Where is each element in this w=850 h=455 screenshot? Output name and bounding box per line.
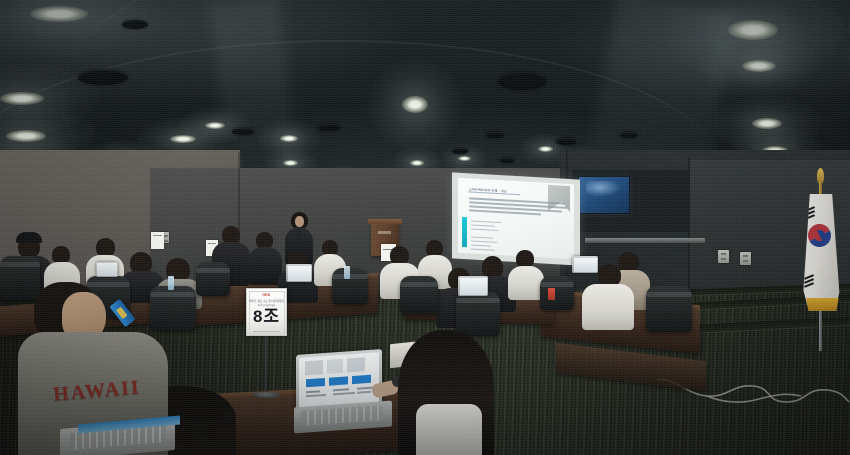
presentation-slide: 스마트팩토리의 이해 · 개요 [458,178,574,259]
office-chair [400,276,438,314]
flag-pole [819,182,822,196]
projection-screen: 스마트팩토리의 이해 · 개요 [452,172,580,265]
cap-icon [16,232,42,243]
water-bottle [344,266,350,279]
slide-bullet-line [471,224,495,227]
ceiling-speaker-vent [232,128,254,135]
slide-bullet-line [471,236,493,239]
south-korea-flag [795,168,847,348]
laptop [572,256,598,273]
laptop [458,276,488,296]
ceiling-speaker-vent [78,70,128,85]
sign-post [265,336,267,394]
ceiling-speaker-vent [498,72,546,90]
slide-bullet-line [471,244,491,246]
seminar-room-photo: 스마트팩토리의 이해 · 개요 [0,0,850,455]
ceiling-speaker-vent [122,20,148,29]
flag-stand-pole [819,311,822,351]
foreground-person-top [416,404,482,455]
podium-logo [378,231,391,234]
power-outlet [718,250,729,263]
wall-sign [151,232,164,249]
flag-cloth [801,194,841,306]
laptop-ui-card [306,378,325,387]
wall-monitor [578,176,630,214]
microphone-icon [297,228,300,236]
sign-footer-line [253,331,280,333]
office-chair [332,268,368,304]
laptop-ui-card [329,376,348,385]
laptop-ui-card [352,375,371,384]
office-chair [150,286,196,330]
attendee-body [582,284,634,330]
slide-title-underline [468,191,520,195]
flag-gold-fringe [804,298,840,311]
office-chair [456,292,500,336]
drink-can [548,288,555,300]
ceiling-speaker-vent [556,138,576,145]
attendee-body [248,247,282,285]
slide-bullet-line [471,220,501,223]
office-chair [646,286,692,332]
presenter-face [295,216,304,227]
office-chair [540,276,574,310]
podium-top [368,219,402,224]
flag-trigram [805,214,815,219]
laptop-screen [299,352,379,408]
wall-shelf-rail [585,238,705,243]
sign-team-number: 8조 [246,308,287,325]
ceiling-speaker-vent [620,132,638,138]
ceiling-speaker-vent [318,124,340,131]
ceiling-speaker-vent [486,132,504,138]
sign-base [252,392,280,398]
office-chair [196,262,230,296]
slide-accent-bar [462,217,467,247]
ceiling-speaker-vent [500,158,514,163]
team-number-sign: HRD 해커톤 캠프 4조 창의문제해결 아이디어경진대회 8조 [246,288,287,336]
laptop [286,264,312,282]
laptop [96,262,118,277]
sign-logo-text: HRD [263,293,271,297]
office-chair [0,256,40,300]
slide-bullet-line [471,248,495,251]
attendee-body [508,266,544,300]
water-bottle [168,276,174,290]
ceiling-speaker-vent [452,148,468,154]
slide-bullet-line [471,228,498,231]
slide-bullet-line [471,240,497,243]
power-outlet [740,252,751,265]
